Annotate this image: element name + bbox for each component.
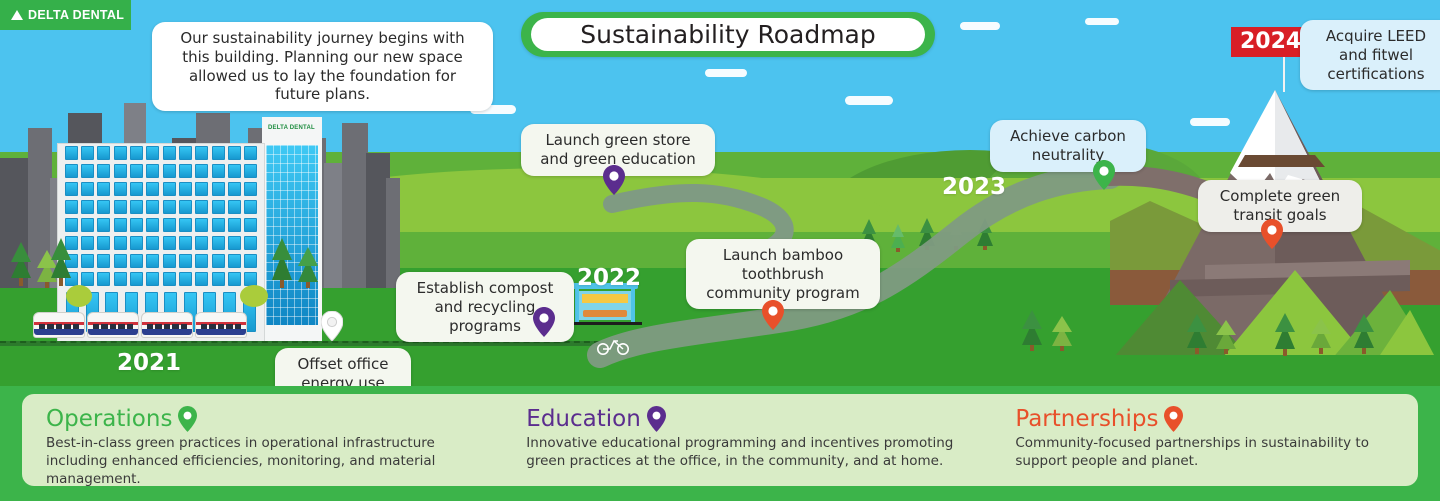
orange-pin-icon[interactable] [762,300,784,330]
legend-title-operations: Operations [46,406,172,432]
year-2023: 2023 [942,174,1006,200]
cloud-icon [705,69,747,77]
tree-icon [1185,300,1209,354]
tree-icon [1020,295,1044,351]
purple-pin-icon[interactable] [533,307,555,337]
tree-icon [48,222,74,286]
bicycle-icon [596,335,630,355]
intro-callout: Our sustainability journey begins with t… [152,22,493,111]
tower-logo-text: DELTA DENTAL [268,125,315,131]
legend-panel: Operations Best-in-class green practices… [22,394,1418,486]
tree-icon [296,232,320,288]
legend-description-operations: Best-in-class green practices in operati… [46,434,486,489]
year-2022: 2022 [577,265,641,291]
bush-icon [240,285,268,307]
tree-icon [8,228,34,286]
tree-icon [976,206,994,250]
train-icon [33,312,248,340]
page-title: Sustainability Roadmap [580,20,876,49]
delta-triangle-icon [11,10,23,20]
milestone-label-carbon-neutrality[interactable]: Achieve carbon neutrality [990,120,1146,172]
tree-icon [1272,298,1298,356]
purple-pin-icon [647,406,666,432]
orange-pin-icon [1164,406,1183,432]
cloud-icon [960,22,1000,30]
white-pin-icon[interactable] [321,311,343,341]
tree-icon [1052,305,1072,351]
sustainability-roadmap-infographic: DELTA DENTAL [0,0,1440,501]
legend-description-education: Innovative educational programming and i… [526,434,975,470]
milestone-label-leed-fitwel[interactable]: Acquire LEED and fitwel certifications [1300,20,1440,90]
tree-icon [268,222,296,288]
legend-description-partnerships: Community-focused partnerships in sustai… [1015,434,1394,470]
legend-item-partnerships[interactable]: Partnerships Community-focused partnersh… [1015,406,1394,486]
cloud-icon [1085,18,1119,25]
year-2021: 2021 [117,350,181,376]
legend-item-education[interactable]: Education Innovative educational program… [526,406,1015,486]
tree-icon [1310,306,1332,354]
tree-icon [948,212,964,250]
tree-icon [890,214,906,252]
tree-icon [918,206,936,250]
delta-dental-logo[interactable]: DELTA DENTAL [0,0,131,30]
tree-icon [1216,310,1236,354]
tree-icon [1352,300,1376,354]
legend-item-operations[interactable]: Operations Best-in-class green practices… [46,406,526,486]
milestone-label-bamboo-toothbrush[interactable]: Launch bamboo toothbrush community progr… [686,239,880,309]
legend-title-education: Education [526,406,641,432]
page-title-banner: Sustainability Roadmap [521,12,935,57]
green-pin-icon[interactable] [1093,160,1115,190]
purple-pin-icon[interactable] [603,165,625,195]
bush-icon [66,285,92,307]
green-pin-icon [178,406,197,432]
cloud-icon [845,96,893,105]
legend-title-partnerships: Partnerships [1015,406,1158,432]
logo-text: DELTA DENTAL [28,8,124,22]
year-2024-flag: 2024 [1231,27,1310,57]
orange-pin-icon[interactable] [1261,219,1283,249]
